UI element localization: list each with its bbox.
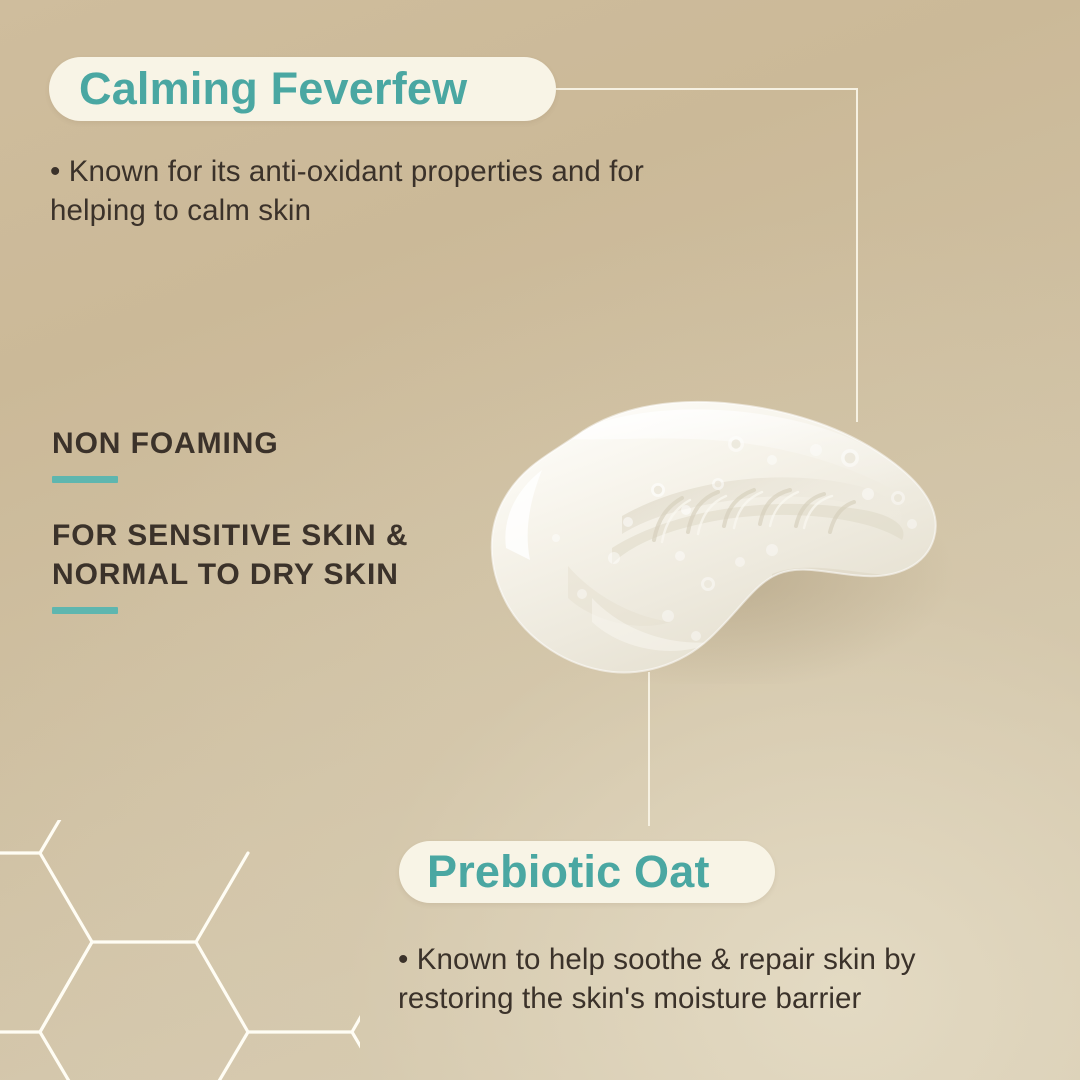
cream-swatch-image [472,398,1002,684]
infographic-canvas: Calming Feverfew • Known for its anti-ox… [0,0,1080,1080]
callout-pill-feverfew: Calming Feverfew [49,57,556,121]
feature-title-skin-type: FOR SENSITIVE SKIN & NORMAL TO DRY SKIN [52,517,482,594]
callout-pill-oat: Prebiotic Oat [399,841,775,903]
callout-body-oat: • Known to help soothe & repair skin by … [398,940,1038,1018]
honeycomb-pattern-icon [0,820,360,1080]
connector-line-feverfew-horizontal [556,88,858,90]
callout-title-oat: Prebiotic Oat [427,846,710,898]
feature-rule-skin-type [52,607,118,614]
feature-item-skin-type: FOR SENSITIVE SKIN & NORMAL TO DRY SKIN [52,517,482,614]
connector-line-oat-vertical [648,672,650,826]
connector-line-feverfew-vertical [856,88,858,422]
feature-list: NON FOAMING FOR SENSITIVE SKIN & NORMAL … [52,425,482,648]
feature-item-non-foaming: NON FOAMING [52,425,482,483]
callout-body-feverfew: • Known for its anti-oxidant properties … [50,152,700,230]
feature-title-non-foaming: NON FOAMING [52,425,482,463]
feature-rule-non-foaming [52,476,118,483]
callout-title-feverfew: Calming Feverfew [79,63,467,115]
